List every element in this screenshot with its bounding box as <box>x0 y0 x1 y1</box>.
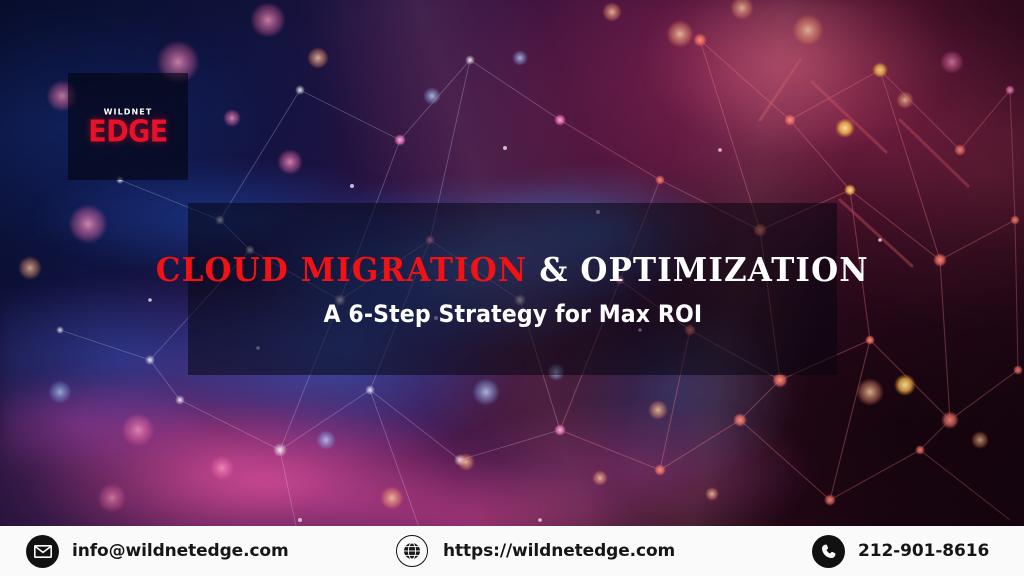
phone-icon <box>812 535 845 568</box>
promo-banner: WILDNET EDGE CLOUD MIGRATION & OPTIMIZAT… <box>0 0 1024 576</box>
title-part-white: OPTIMIZATION <box>581 250 869 289</box>
globe-icon <box>396 535 428 567</box>
contact-phone[interactable]: 212-901-8616 <box>812 535 989 568</box>
brand-logo[interactable]: WILDNET EDGE <box>68 73 188 180</box>
contact-website-text: https://wildnetedge.com <box>443 541 675 561</box>
envelope-icon <box>26 535 59 568</box>
contact-website[interactable]: https://wildnetedge.com <box>396 535 675 567</box>
page-title: CLOUD MIGRATION & OPTIMIZATION <box>156 253 869 286</box>
logo-edge-text: EDGE <box>68 116 188 146</box>
page-subtitle: A 6-Step Strategy for Max ROI <box>323 302 702 326</box>
title-overlay-panel: CLOUD MIGRATION & OPTIMIZATION A 6-Step … <box>188 203 837 375</box>
contact-phone-text: 212-901-8616 <box>858 541 989 561</box>
contact-footer-bar: info@wildnetedge.com https://wildnetedge… <box>0 526 1024 576</box>
title-separator: & <box>528 250 581 289</box>
contact-email-text: info@wildnetedge.com <box>72 541 289 561</box>
contact-email[interactable]: info@wildnetedge.com <box>26 535 289 568</box>
title-part-red: CLOUD MIGRATION <box>156 250 528 289</box>
